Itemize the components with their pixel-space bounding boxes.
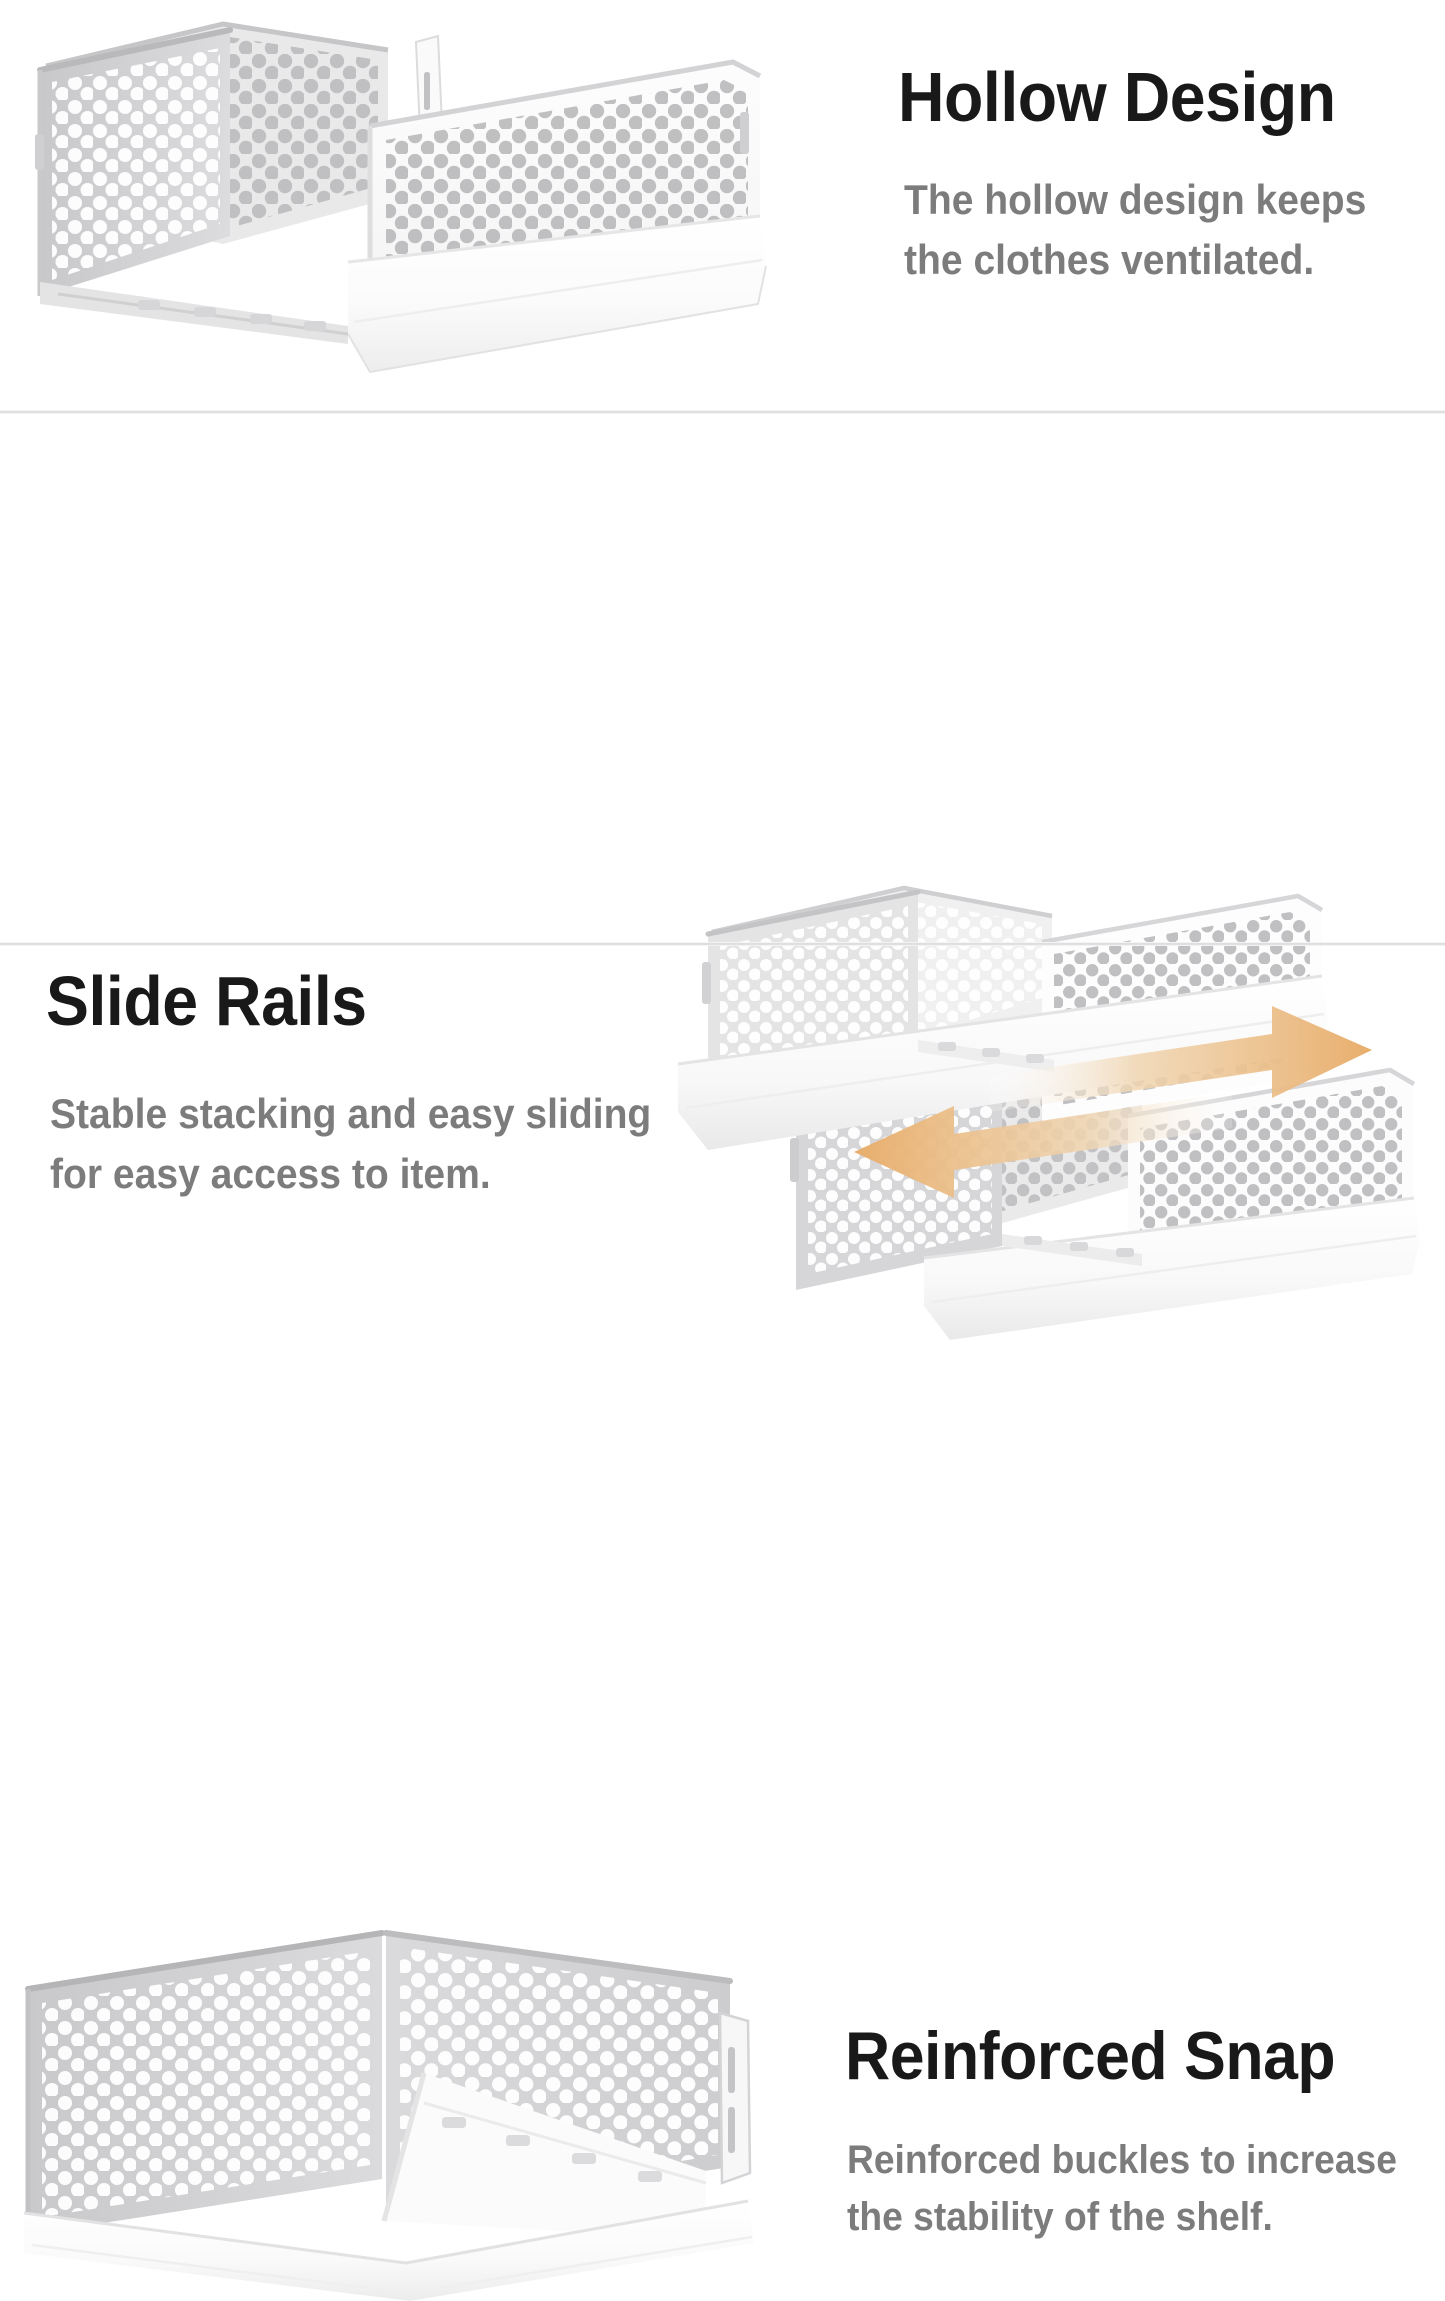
basket-left-panel: [28, 1933, 382, 2235]
feature-section-hollow-design: Hollow Design The hollow design keeps th…: [0, 0, 1445, 413]
subtitle-line: The hollow design keeps: [904, 170, 1366, 230]
feature-title-reinforced-snap: Reinforced Snap: [845, 2022, 1391, 2090]
feature-subtitle-hollow-design: The hollow design keeps the clothes vent…: [904, 170, 1366, 289]
subtitle-line: the clothes ventilated.: [904, 230, 1366, 290]
feature-subtitle-reinforced-snap: Reinforced buckles to increase the stabi…: [847, 2132, 1397, 2246]
product-image-hollow-design: [18, 4, 808, 404]
subtitle-line: the stability of the shelf.: [847, 2189, 1397, 2246]
subtitle-line: Reinforced buckles to increase: [847, 2132, 1397, 2189]
feature-text-reinforced-snap: Reinforced Snap Reinforced buckles to in…: [845, 2022, 1438, 2246]
feature-title-hollow-design: Hollow Design: [898, 62, 1361, 132]
feature-section-reinforced-snap: Reinforced Snap Reinforced buckles to in…: [0, 946, 1445, 1358]
infographic-page: Hollow Design The hollow design keeps th…: [0, 0, 1445, 1358]
feature-text-hollow-design: Hollow Design The hollow design keeps th…: [898, 62, 1401, 289]
reinforced-snap-buckle: [720, 2013, 750, 2183]
feature-section-slide-rails: Slide Rails Stable stacking and easy sli…: [0, 414, 1445, 945]
product-image-reinforced-snap: [6, 1921, 796, 2301]
basket-left-panel: [35, 30, 230, 296]
basket-bottom-hinge: [40, 282, 348, 344]
